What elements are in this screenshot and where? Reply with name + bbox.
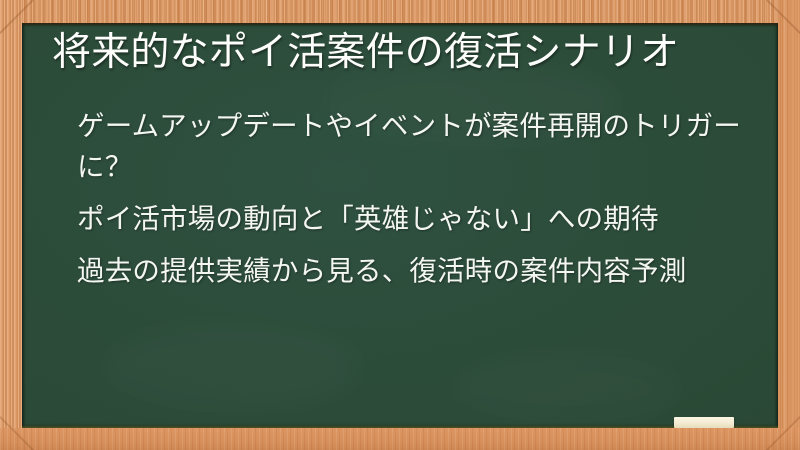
- bullet-item-2: ポイ活市場の動向と「英雄じゃない」への期待: [55, 198, 771, 239]
- frame-rail-left: [0, 0, 22, 450]
- slide-bullet-list: ゲームアップデートやイベントが案件再開のトリガーに？ ポイ活市場の動向と「英雄じ…: [55, 105, 771, 291]
- bullet-item-1: ゲームアップデートやイベントが案件再開のトリガーに？: [55, 105, 771, 187]
- chalk-smudge: [102, 323, 362, 413]
- chalkboard-surface: 将来的なポイ活案件の復活シナリオ ゲームアップデートやイベントが案件再開のトリガ…: [22, 23, 778, 428]
- frame-rail-right: [778, 0, 800, 450]
- chalkboard-slide: 将来的なポイ活案件の復活シナリオ ゲームアップデートやイベントが案件再開のトリガ…: [0, 0, 800, 450]
- board-bottom-edge: [22, 425, 778, 428]
- board-top-shadow: [22, 23, 778, 26]
- frame-rail-top: [0, 0, 800, 23]
- chalk-stick-icon: [674, 417, 734, 428]
- frame-rail-bottom: [0, 428, 800, 450]
- slide-title: 将来的なポイ活案件の復活シナリオ: [52, 30, 752, 76]
- chalk-smudge: [452, 353, 682, 423]
- bullet-item-3: 過去の提供実績から見る、復活時の案件内容予測: [55, 250, 771, 291]
